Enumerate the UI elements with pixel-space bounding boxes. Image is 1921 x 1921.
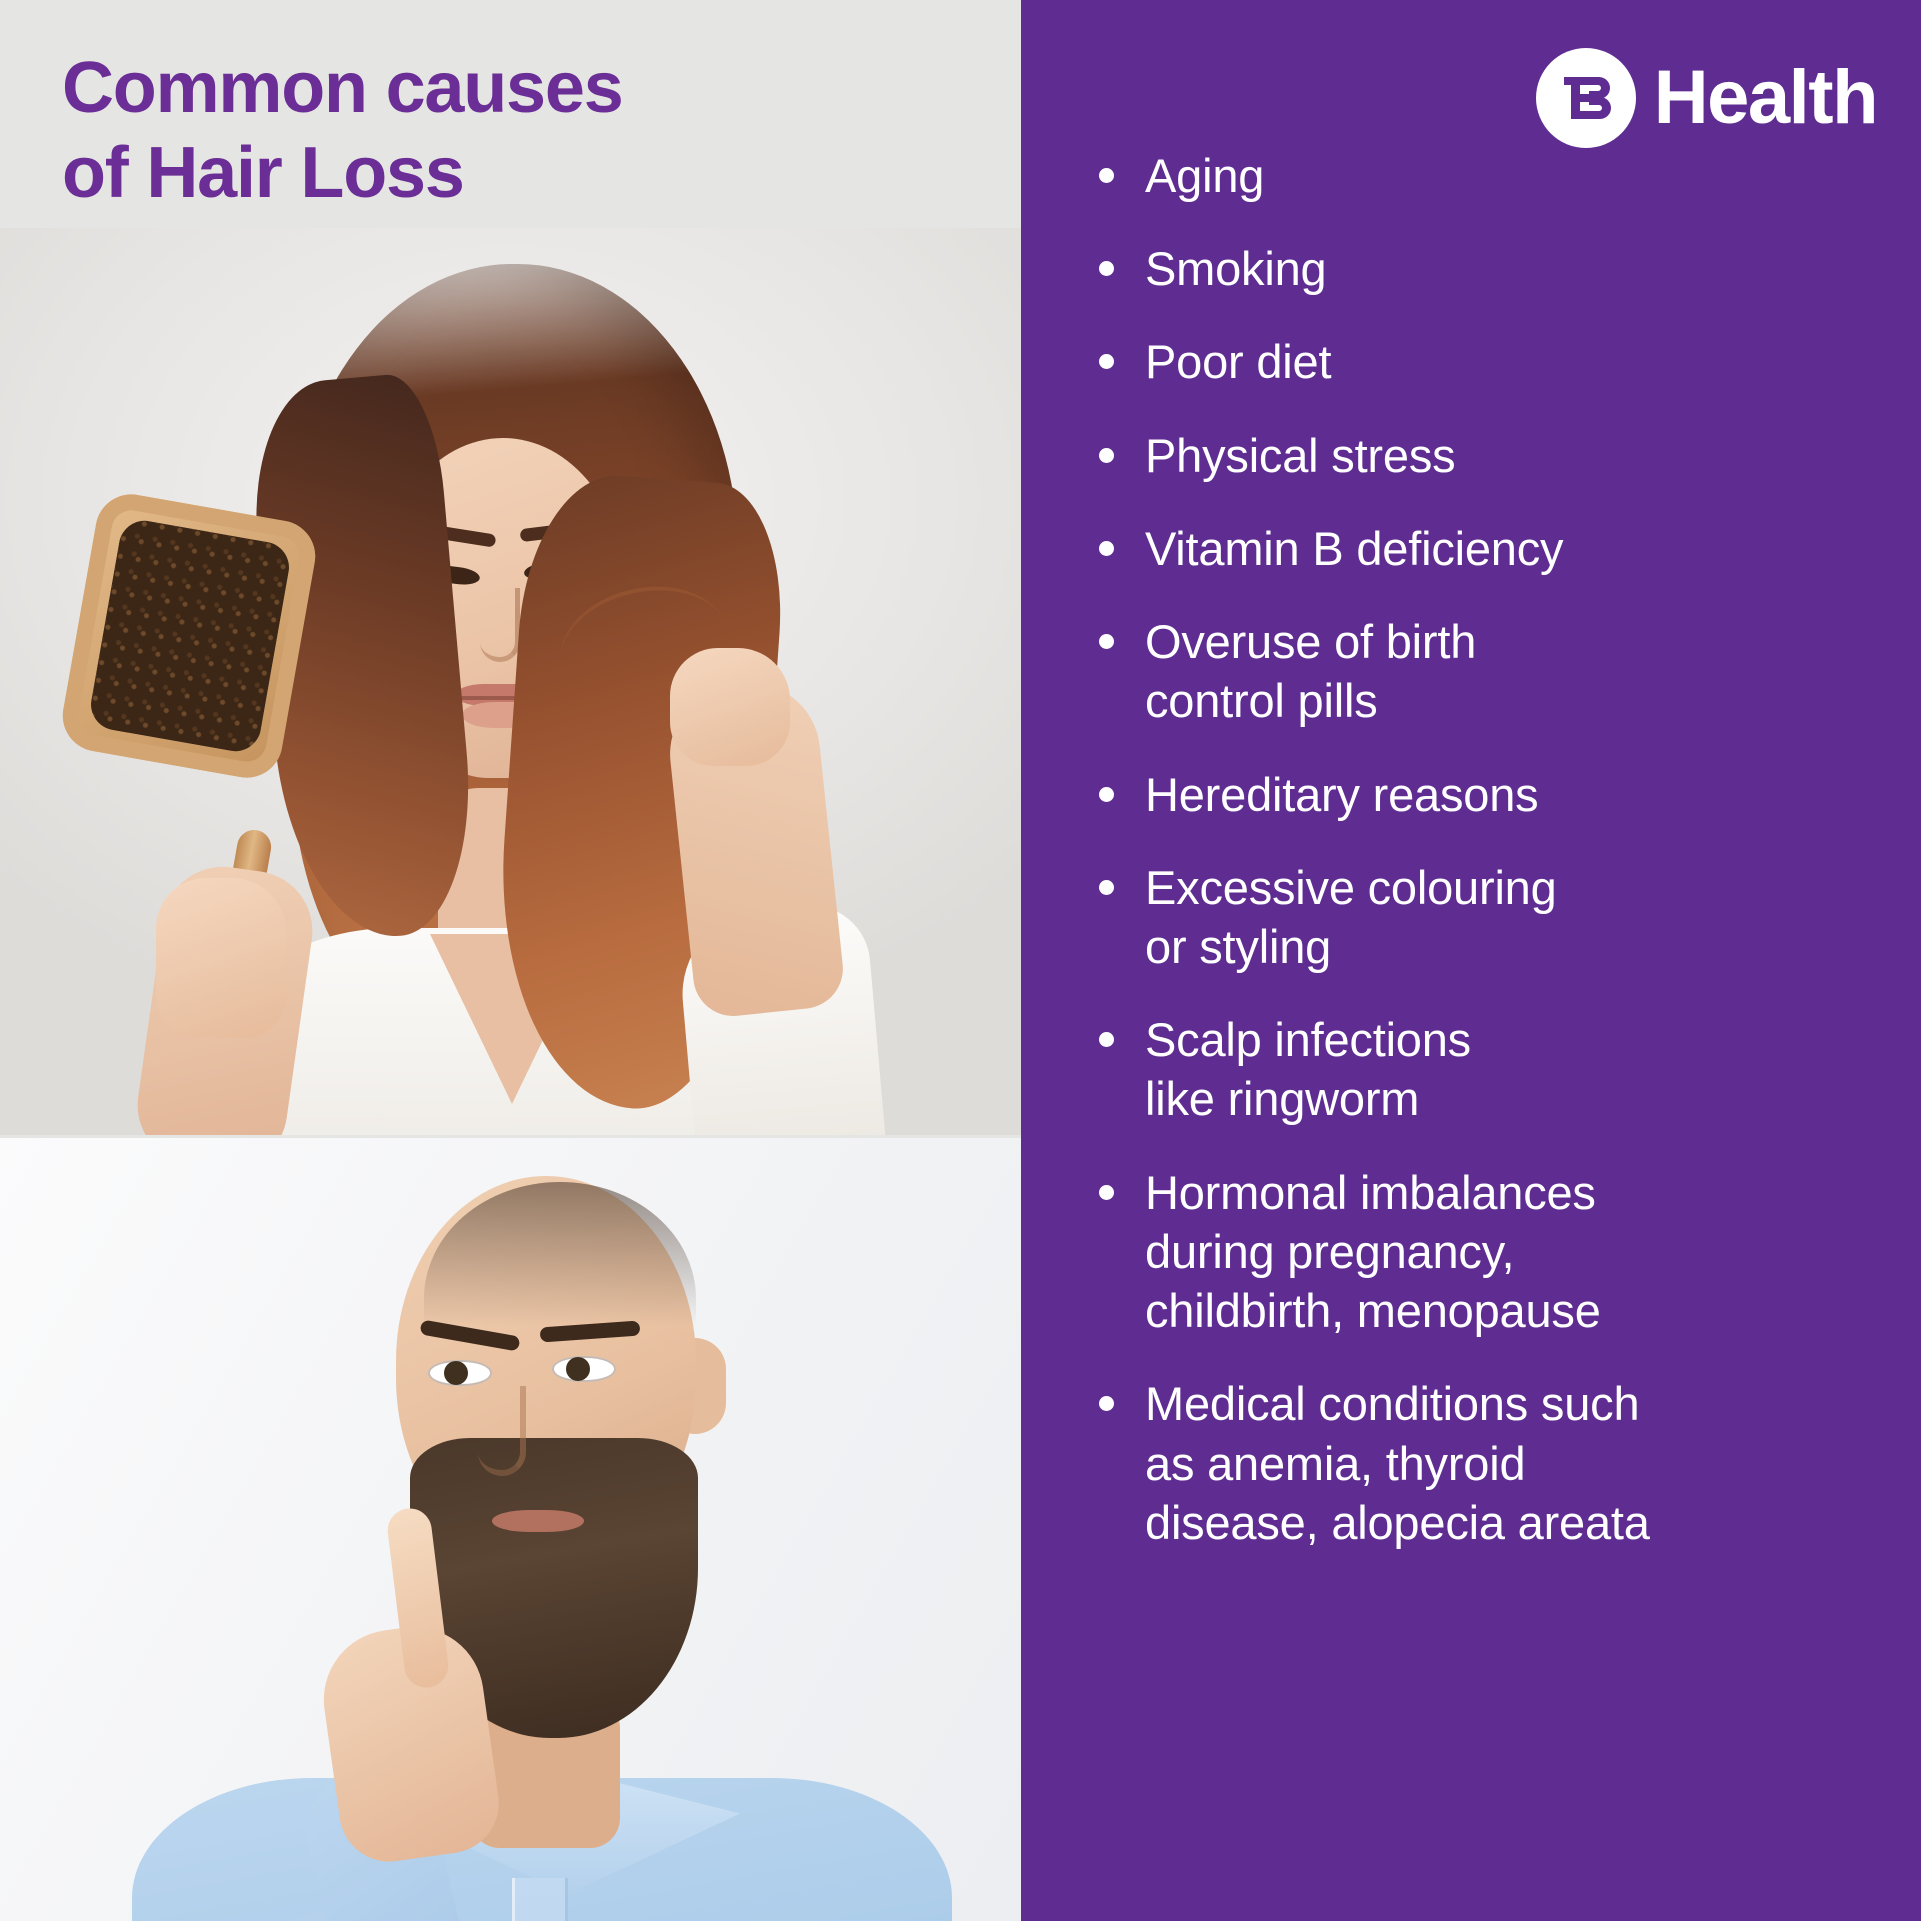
woman-hand-right: [670, 648, 790, 766]
cause-line: Physical stress: [1145, 426, 1921, 485]
list-item: Smoking: [1093, 239, 1921, 298]
list-item: Scalp infections like ringworm: [1093, 1010, 1921, 1128]
man-shirt-placket: [512, 1878, 568, 1921]
cause-line: childbirth, menopause: [1145, 1281, 1921, 1340]
brand-name-label: Health: [1654, 60, 1877, 136]
man-pupil-right: [566, 1357, 590, 1381]
list-item: Physical stress: [1093, 426, 1921, 485]
cause-line: disease, alopecia areata: [1145, 1493, 1921, 1552]
cause-line: Medical conditions such: [1145, 1374, 1921, 1433]
hair-loss-causes-list: Aging Smoking Poor diet Physical stress …: [1093, 146, 1921, 1586]
man-pupil-left: [444, 1361, 468, 1385]
bajaj-finserv-b-circle-icon: [1536, 48, 1636, 148]
page-title-line-2: of Hair Loss: [62, 131, 942, 216]
list-item: Aging: [1093, 146, 1921, 205]
cause-line: like ringworm: [1145, 1069, 1921, 1128]
cause-line: or styling: [1145, 917, 1921, 976]
cause-line: Hereditary reasons: [1145, 765, 1921, 824]
cause-line: Scalp infections: [1145, 1010, 1921, 1069]
list-item: Overuse of birth control pills: [1093, 612, 1921, 730]
man-mouth: [492, 1510, 584, 1532]
page-title: Common causes of Hair Loss: [62, 46, 942, 216]
woman-brushing-hair-photo: [0, 228, 1021, 1135]
cause-line: Smoking: [1145, 239, 1921, 298]
cause-line: control pills: [1145, 671, 1921, 730]
cause-line: as anemia, thyroid: [1145, 1434, 1921, 1493]
brand-logo: Health: [1536, 48, 1877, 148]
list-item: Poor diet: [1093, 332, 1921, 391]
balding-man-photo: [0, 1138, 1021, 1921]
cause-line: during pregnancy,: [1145, 1222, 1921, 1281]
page-title-line-1: Common causes: [62, 46, 942, 131]
cause-line: Hormonal imbalances: [1145, 1163, 1921, 1222]
cause-line: Aging: [1145, 146, 1921, 205]
list-item: Vitamin B deficiency: [1093, 519, 1921, 578]
cause-line: Overuse of birth: [1145, 612, 1921, 671]
causes-panel: Health Aging Smoking Poor diet Physical …: [1021, 0, 1921, 1921]
hairbrush-bristles: [87, 517, 293, 756]
man-photo-scene: [0, 1138, 1021, 1921]
man-nose: [478, 1386, 526, 1476]
list-item: Medical conditions such as anemia, thyro…: [1093, 1374, 1921, 1552]
list-item: Hereditary reasons: [1093, 765, 1921, 824]
left-visual-column: Common causes of Hair Loss: [0, 0, 1021, 1921]
list-item: Excessive colouring or styling: [1093, 858, 1921, 976]
woman-hand-left: [156, 878, 286, 1038]
infographic-poster: Common causes of Hair Loss: [0, 0, 1921, 1921]
list-item: Hormonal imbalances during pregnancy, ch…: [1093, 1163, 1921, 1341]
cause-line: Poor diet: [1145, 332, 1921, 391]
woman-photo-scene: [0, 228, 1021, 1135]
woman-nose: [480, 588, 520, 662]
cause-line: Vitamin B deficiency: [1145, 519, 1921, 578]
cause-line: Excessive colouring: [1145, 858, 1921, 917]
